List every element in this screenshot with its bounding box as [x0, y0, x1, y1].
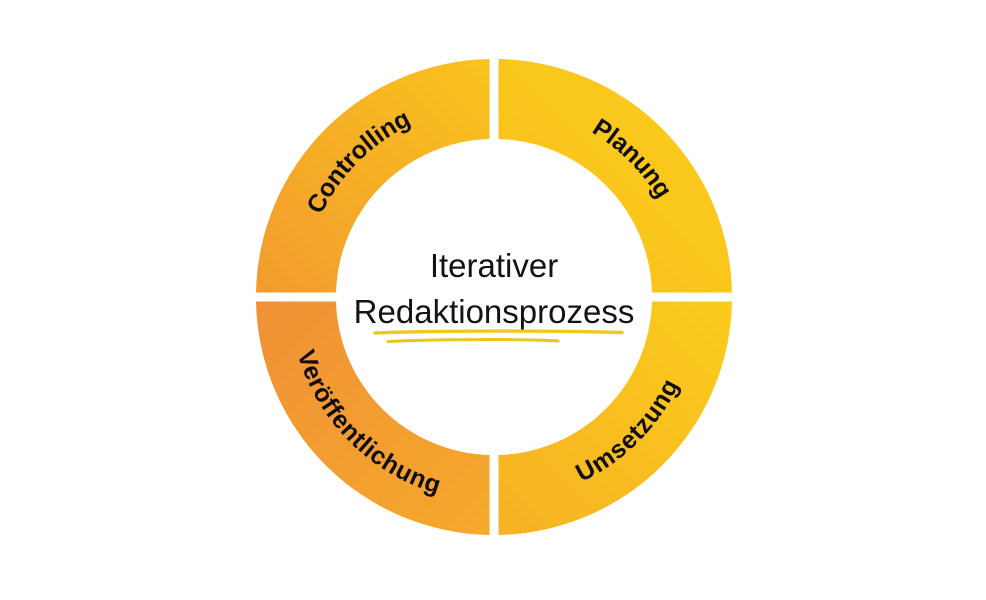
center-text-block: Iterativer Redaktionsprozess — [354, 247, 635, 342]
center-title-line2: Redaktionsprozess — [354, 293, 635, 330]
center-underline — [375, 331, 622, 341]
cycle-diagram-svg: Planung Umsetzung Veröffentlichung Contr… — [0, 0, 986, 600]
cycle-diagram: Planung Umsetzung Veröffentlichung Contr… — [0, 0, 986, 600]
center-title-line1: Iterativer — [430, 247, 558, 284]
underline-stroke-upper — [375, 331, 622, 333]
segment-veroeffentlichung[interactable] — [256, 302, 490, 535]
segment-umsetzung[interactable] — [499, 302, 733, 535]
underline-stroke-lower — [388, 340, 558, 342]
